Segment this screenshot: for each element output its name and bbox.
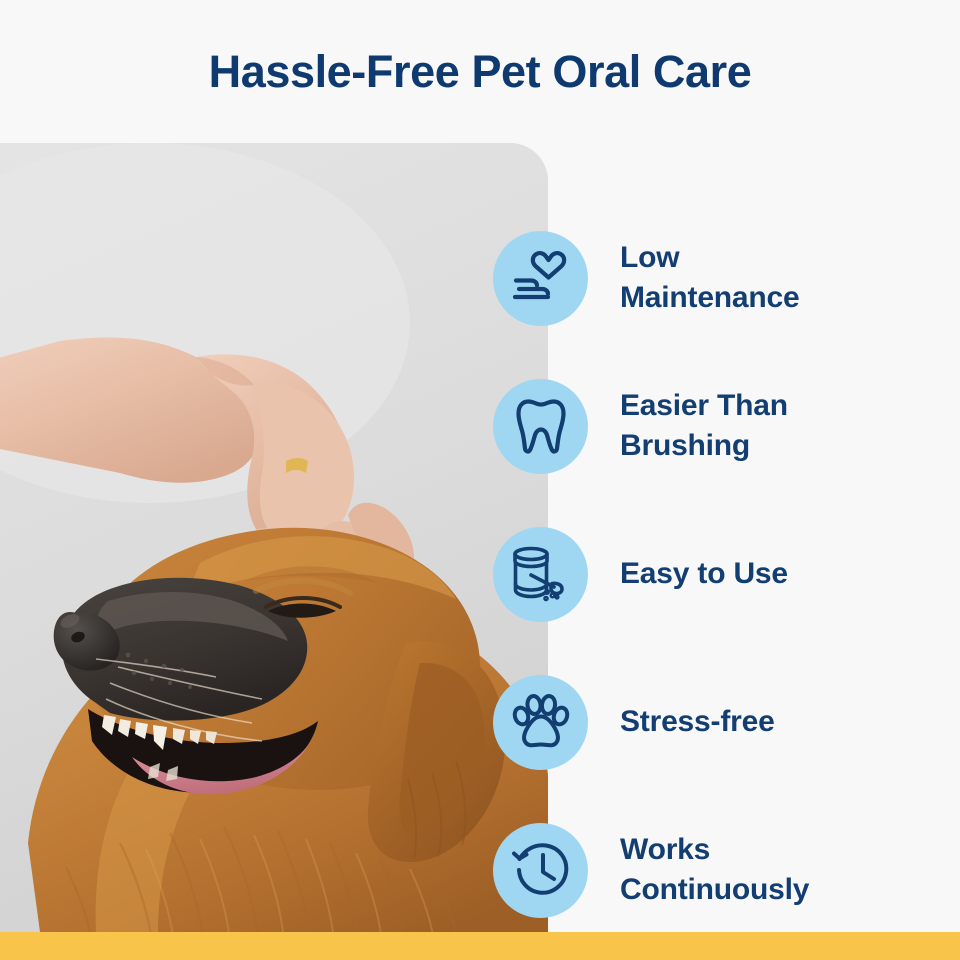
jar-with-scoop-glyph — [510, 545, 572, 603]
paw-print-icon — [493, 675, 588, 770]
feature-list: LowMaintenance Easier ThanBrushing — [493, 204, 953, 944]
feature-row-stress-free: Stress-free — [493, 648, 953, 796]
dog-photo-panel — [0, 143, 548, 932]
feature-label-works-continuously: WorksContinuously — [620, 830, 809, 909]
jar-with-scoop-icon — [493, 527, 588, 622]
paw-print-glyph — [512, 694, 570, 750]
feature-row-low-maintenance: LowMaintenance — [493, 204, 953, 352]
feature-label-stress-free: Stress-free — [620, 702, 775, 742]
feature-label-low-maintenance: LowMaintenance — [620, 238, 800, 317]
page-title: Hassle-Free Pet Oral Care — [209, 46, 752, 98]
dog-photo-image — [0, 143, 548, 932]
clock-rotate-icon — [493, 823, 588, 918]
tooth-glyph — [515, 397, 567, 455]
feature-row-works-continuously: WorksContinuously — [493, 796, 953, 944]
feature-label-easier-than-brushing: Easier ThanBrushing — [620, 386, 788, 465]
feature-label-easy-to-use: Easy to Use — [620, 554, 788, 594]
feature-row-easier-than-brushing: Easier ThanBrushing — [493, 352, 953, 500]
clock-rotate-glyph — [511, 841, 571, 899]
tooth-icon — [493, 379, 588, 474]
pet-oral-care-infographic: Hassle-Free Pet Oral Care — [0, 0, 960, 960]
header: Hassle-Free Pet Oral Care — [0, 0, 960, 143]
feature-row-easy-to-use: Easy to Use — [493, 500, 953, 648]
bottom-accent-bar — [0, 932, 960, 960]
heart-in-hand-glyph — [510, 249, 572, 307]
heart-in-hand-icon — [493, 231, 588, 326]
